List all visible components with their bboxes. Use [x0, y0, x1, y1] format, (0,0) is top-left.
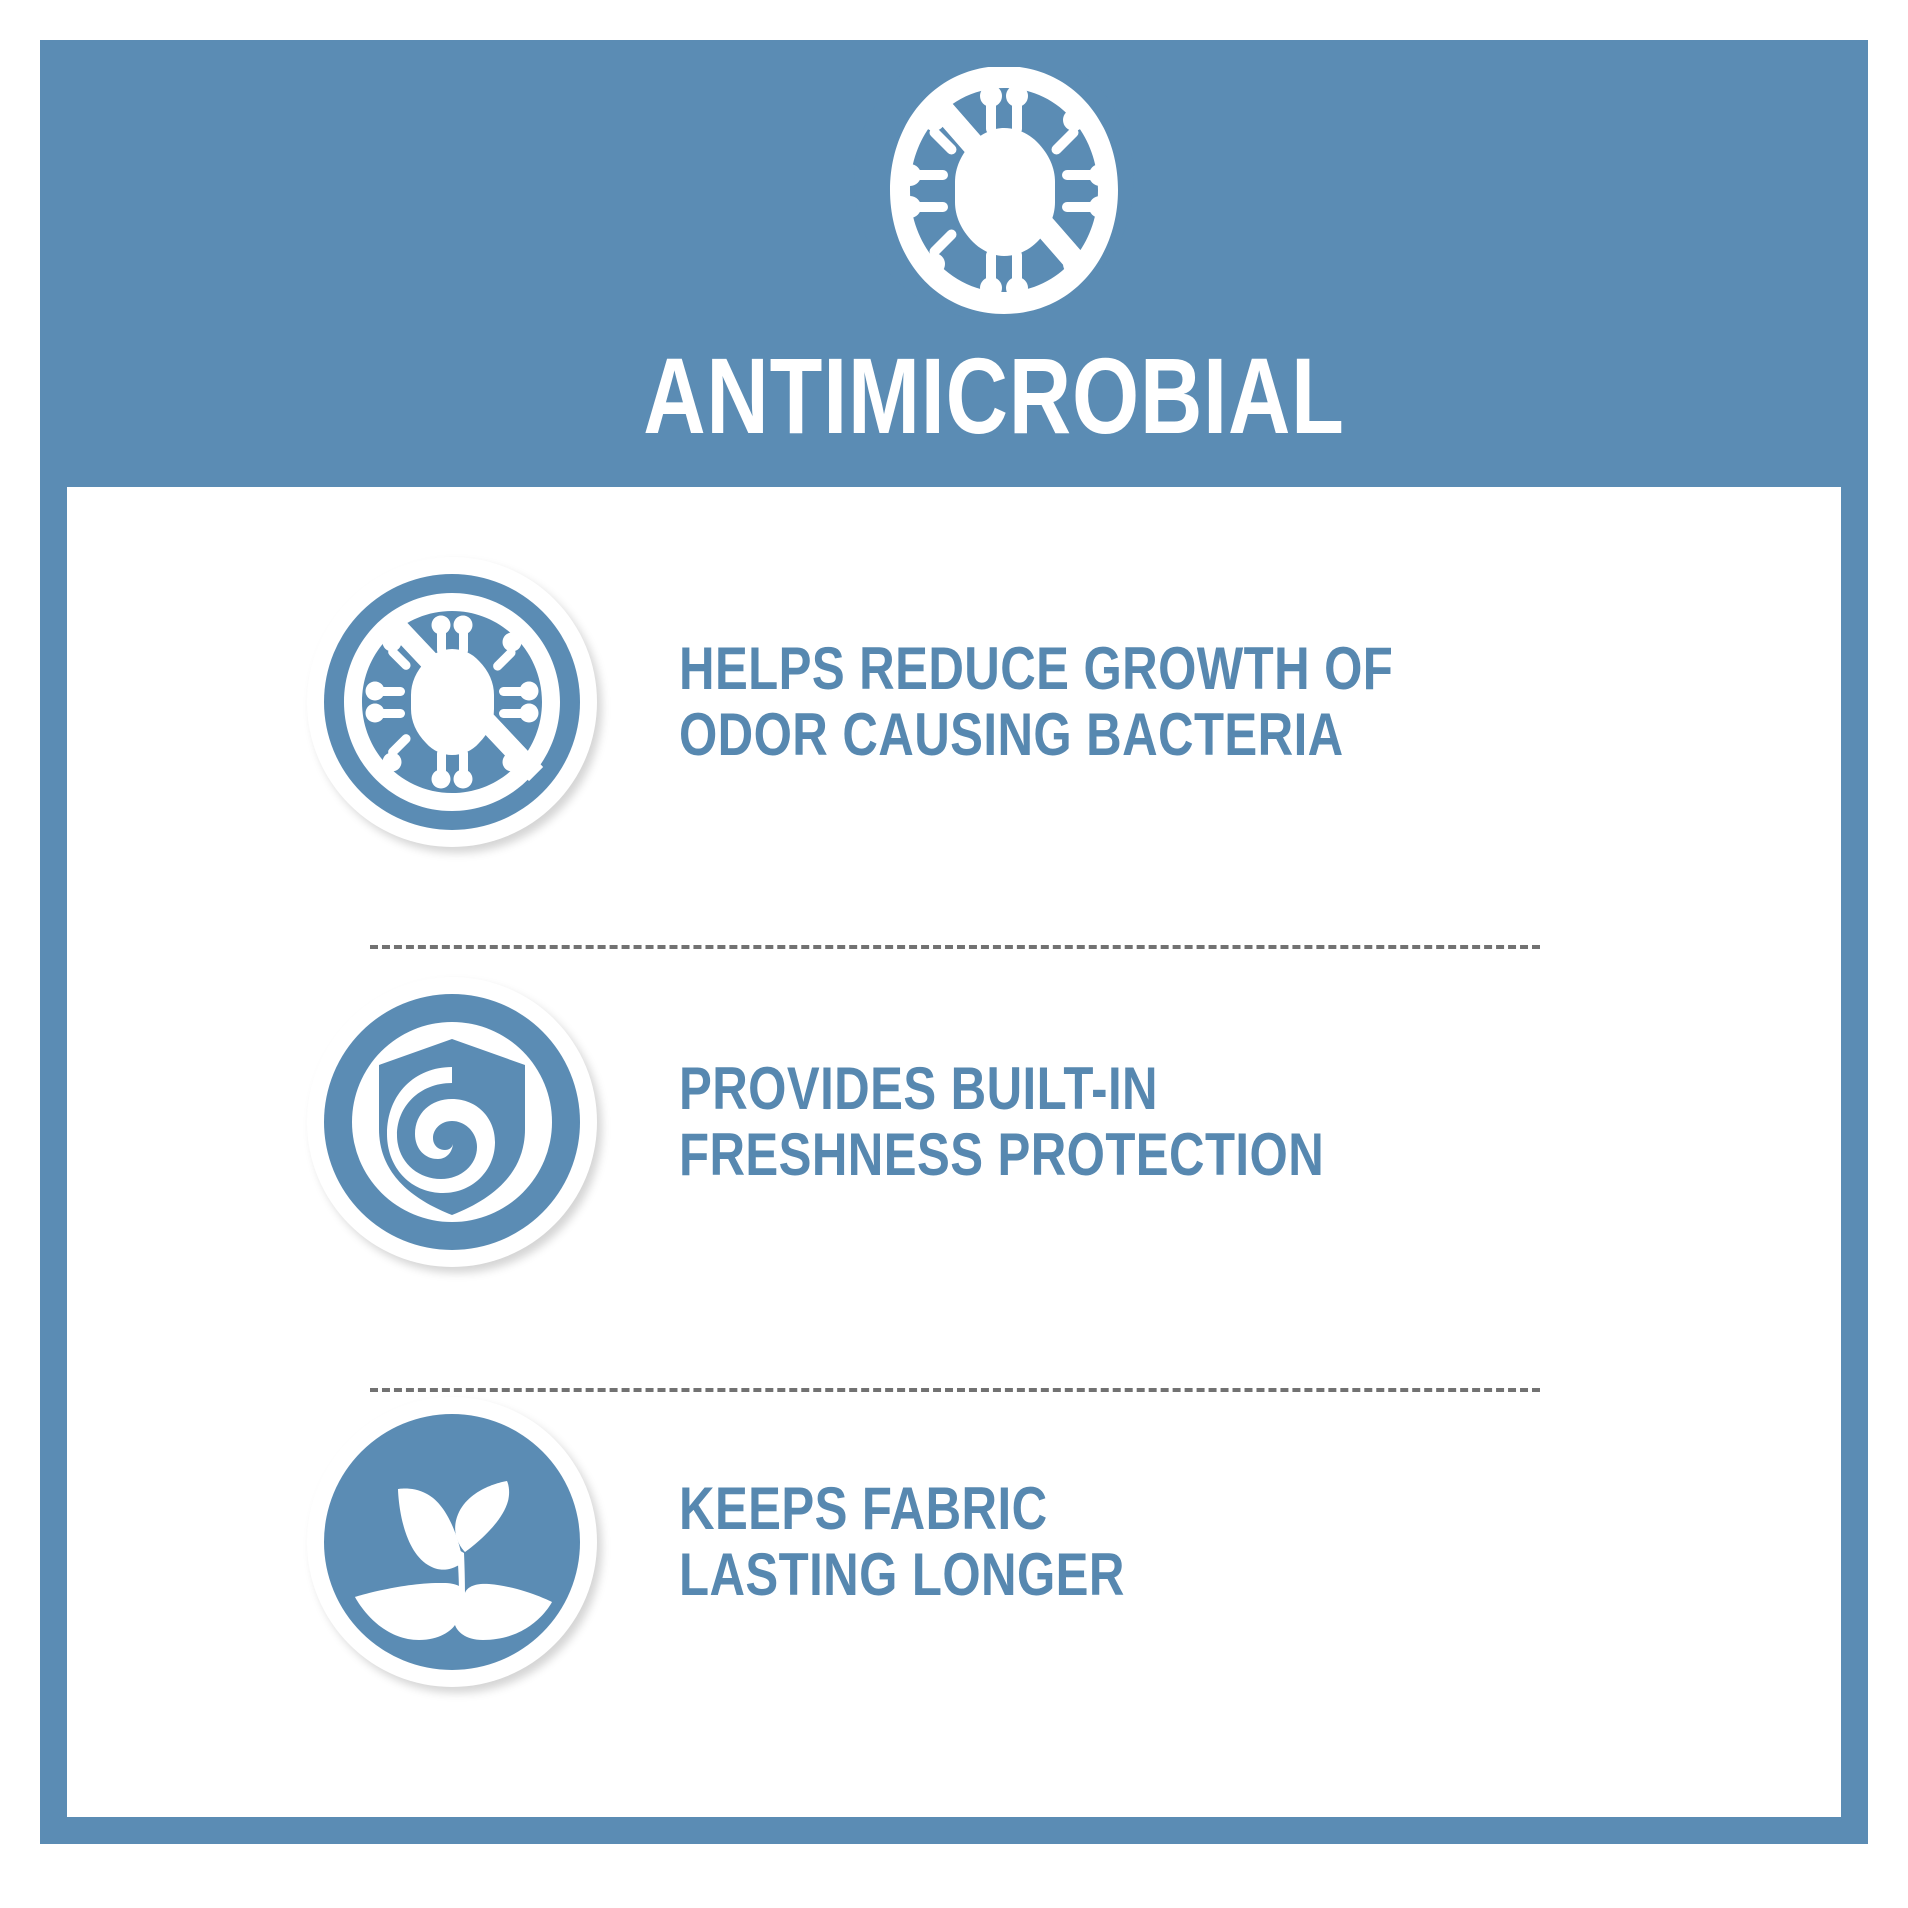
feature-icon-2	[307, 977, 597, 1267]
feature-text-2: PROVIDES BUILT-IN FRESHNESS PROTECTION	[679, 1056, 1324, 1188]
feature-icon-1	[307, 557, 597, 847]
feature-line-1: HELPS REDUCE GROWTH OF	[679, 636, 1393, 702]
feature-line-1: KEEPS FABRIC	[679, 1476, 1125, 1542]
leaf-sprout-icon	[307, 1397, 597, 1687]
feature-icon-3	[307, 1397, 597, 1687]
feature-row: KEEPS FABRIC LASTING LONGER	[67, 1367, 1841, 1717]
feature-line-2: ODOR CAUSING BACTERIA	[679, 702, 1393, 768]
feature-line-1: PROVIDES BUILT-IN	[679, 1056, 1324, 1122]
no-virus-icon	[876, 62, 1132, 318]
shield-swirl-icon	[307, 977, 597, 1267]
header-band: ANTIMICROBIAL	[40, 40, 1868, 487]
feature-line-2: LASTING LONGER	[679, 1542, 1125, 1608]
page-title: ANTIMICROBIAL	[263, 340, 1725, 452]
feature-text-1: HELPS REDUCE GROWTH OF ODOR CAUSING BACT…	[679, 636, 1393, 768]
feature-text-3: KEEPS FABRIC LASTING LONGER	[679, 1476, 1125, 1608]
no-virus-icon	[307, 557, 597, 847]
feature-row: HELPS REDUCE GROWTH OF ODOR CAUSING BACT…	[67, 527, 1841, 877]
feature-row: PROVIDES BUILT-IN FRESHNESS PROTECTION	[67, 947, 1841, 1297]
infographic-root: ANTIMICROBIAL	[0, 0, 1908, 1908]
features-list: HELPS REDUCE GROWTH OF ODOR CAUSING BACT…	[67, 487, 1841, 1817]
feature-line-2: FRESHNESS PROTECTION	[679, 1122, 1324, 1188]
